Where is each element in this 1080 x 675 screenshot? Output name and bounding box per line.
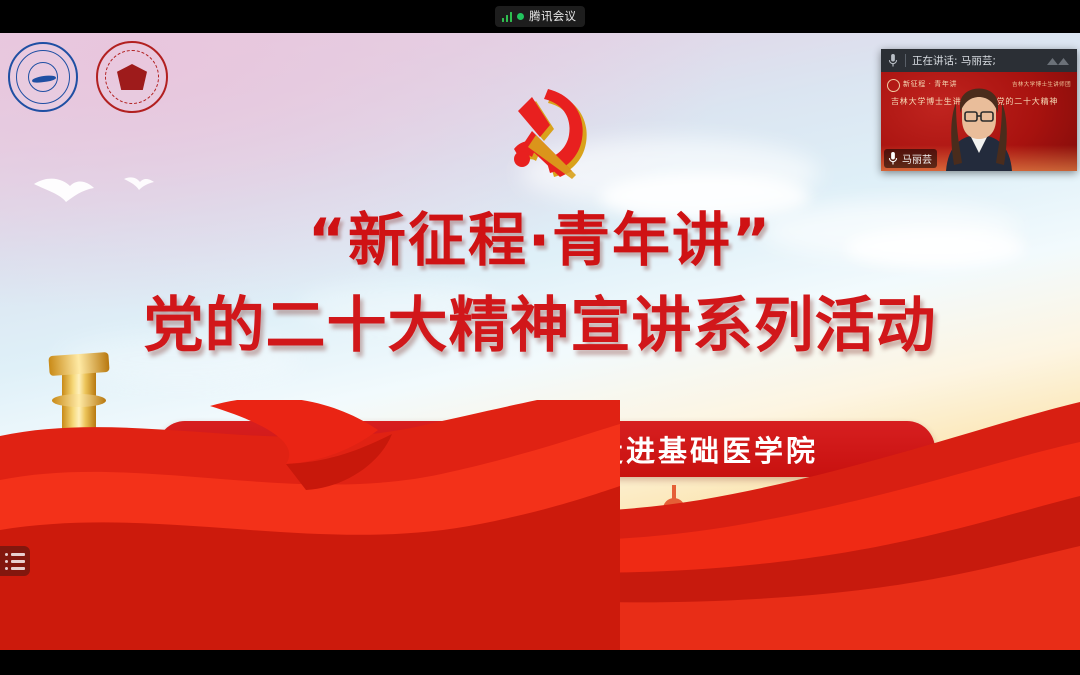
bottom-letterbox <box>0 650 1080 675</box>
video-thumbnail-panel[interactable]: 正在讲话: 马丽芸; 新征程 · 青年讲 吉林大学博士生讲师团走进党的二十大精神… <box>881 49 1077 171</box>
video-feed[interactable]: 新征程 · 青年讲 吉林大学博士生讲师团走进党的二十大精神 吉林大学博士生讲师团 <box>881 72 1077 171</box>
speaking-status-label: 正在讲话: 马丽芸; <box>912 53 996 68</box>
participant-name-badge: 马丽芸 <box>884 149 937 168</box>
virtual-bg-seal-icon <box>887 79 900 92</box>
white-dove-small-icon <box>122 173 156 193</box>
slide-menu-button[interactable] <box>0 546 30 576</box>
video-panel-header[interactable]: 正在讲话: 马丽芸; <box>881 49 1077 72</box>
system-top-bar: 腾讯会议 <box>0 0 1080 33</box>
slide-menu-icon <box>5 553 25 570</box>
speaker-avatar <box>936 79 1022 171</box>
microphone-icon <box>887 151 899 166</box>
cpc-party-emblem-icon <box>492 85 602 185</box>
tencent-meeting-tray-item[interactable]: 腾讯会议 <box>495 6 586 27</box>
signal-bars-icon <box>502 11 513 22</box>
red-flag-wave <box>0 400 620 650</box>
jilin-university-seal-icon <box>8 42 78 112</box>
header-divider <box>905 54 906 67</box>
doctoral-lecturer-group-seal-icon <box>96 41 168 113</box>
screen-root: 腾讯会议 <box>0 0 1080 675</box>
slide-title-main: “新征程·青年讲” <box>0 193 1080 277</box>
double-chevron-up-icon[interactable] <box>1045 54 1071 68</box>
participant-name-label: 马丽芸 <box>902 151 932 166</box>
logo-group <box>8 41 168 113</box>
microphone-icon <box>887 53 899 68</box>
green-status-dot-icon <box>517 13 524 20</box>
tray-app-label: 腾讯会议 <box>529 8 576 24</box>
